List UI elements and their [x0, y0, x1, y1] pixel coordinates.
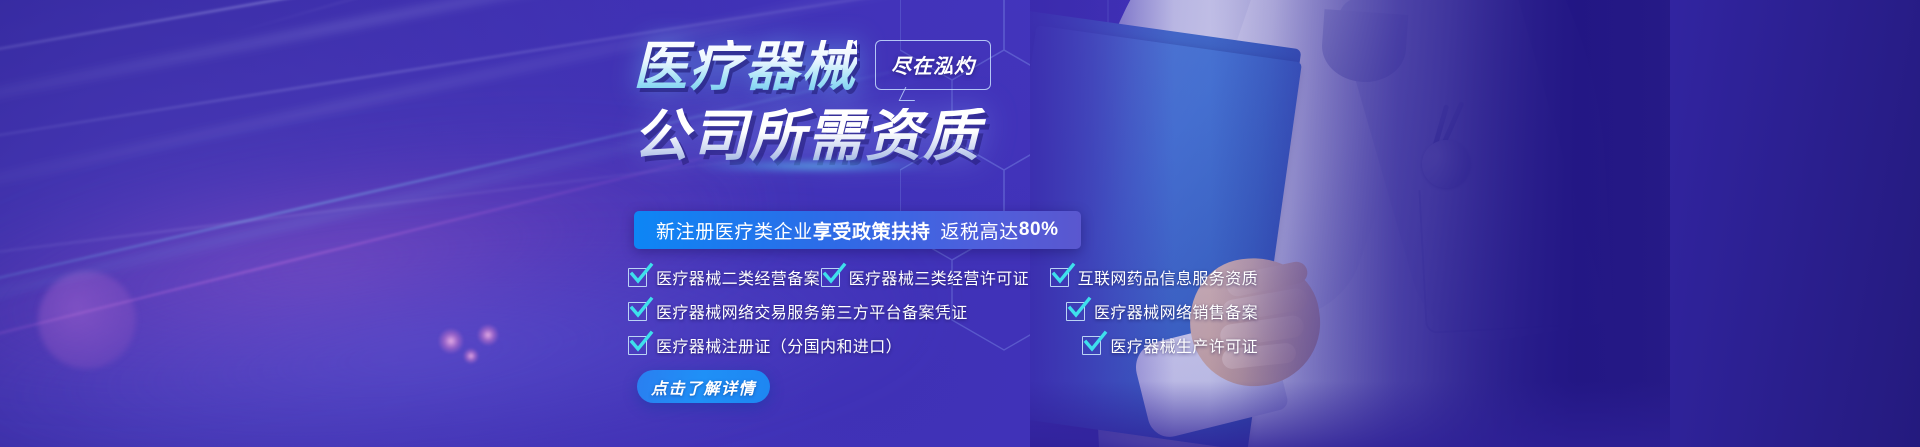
checkbox-checked-icon[interactable] — [1066, 302, 1085, 321]
headline-block: 医疗器械 尽在泓灼 公司所需资质 — [633, 40, 991, 164]
checkbox-checked-icon[interactable] — [628, 336, 647, 355]
headline-line-1: 医疗器械 — [633, 40, 857, 94]
headline-underglow — [700, 162, 930, 170]
checklist-item-label: 互联网药品信息服务资质 — [1078, 265, 1258, 289]
checklist-item-label: 医疗器械注册证（分国内和进口） — [656, 333, 902, 357]
checkbox-checked-icon[interactable] — [1050, 268, 1069, 287]
checklist-item[interactable]: 医疗器械网络销售备案 — [1066, 299, 1258, 323]
checklist-row: 医疗器械注册证（分国内和进口） 医疗器械生产许可证 — [628, 333, 1258, 356]
checkbox-checked-icon[interactable] — [1082, 336, 1101, 355]
medical-device-qualification-banner: 医疗器械 尽在泓灼 公司所需资质 新注册医疗类企业享受政策扶持返税高达80% — [0, 0, 1920, 447]
brand-callout-label: 尽在泓灼 — [891, 56, 975, 78]
checklist-item[interactable]: 医疗器械网络交易服务第三方平台备案凭证 — [628, 299, 968, 323]
checkbox-checked-icon[interactable] — [821, 268, 840, 287]
checklist-item[interactable]: 医疗器械注册证（分国内和进口） — [628, 333, 902, 357]
policy-lead-text: 新注册医疗类企业 — [656, 217, 813, 244]
learn-more-button-label: 点击了解详情 — [651, 375, 756, 399]
policy-tail-emphasis-text: 80% — [1019, 219, 1059, 241]
checklist-row: 医疗器械二类经营备案 医疗器械三类经营许可证 — [628, 265, 1258, 288]
checklist-item-label: 医疗器械网络交易服务第三方平台备案凭证 — [656, 299, 968, 323]
policy-emphasis-text: 享受政策扶持 — [813, 217, 931, 244]
checklist-item[interactable]: 医疗器械二类经营备案 — [628, 265, 820, 289]
checkbox-checked-icon[interactable] — [628, 302, 647, 321]
checklist-item[interactable]: 互联网药品信息服务资质 — [1050, 265, 1258, 289]
checklist-item[interactable]: 医疗器械三类经营许可证 — [821, 265, 1029, 289]
policy-highlight-bar: 新注册医疗类企业享受政策扶持返税高达80% — [634, 211, 1081, 249]
brand-callout-bubble: 尽在泓灼 — [875, 40, 991, 90]
checklist-item[interactable]: 医疗器械生产许可证 — [1082, 333, 1258, 357]
headline-line-2: 公司所需资质 — [633, 108, 991, 164]
checklist-item-label: 医疗器械生产许可证 — [1110, 333, 1258, 357]
qualification-checklist: 医疗器械二类经营备案 医疗器械三类经营许可证 — [628, 265, 1258, 367]
checklist-row: 医疗器械网络交易服务第三方平台备案凭证 医疗器械网络销售备案 — [628, 299, 1258, 322]
checklist-item-label: 医疗器械二类经营备案 — [656, 265, 820, 289]
checklist-item-label: 医疗器械网络销售备案 — [1094, 299, 1258, 323]
checklist-item-label: 医疗器械三类经营许可证 — [849, 265, 1029, 289]
policy-tail-lead-text: 返税高达 — [940, 217, 1018, 244]
learn-more-button[interactable]: 点击了解详情 — [637, 370, 770, 403]
checkbox-checked-icon[interactable] — [628, 268, 647, 287]
